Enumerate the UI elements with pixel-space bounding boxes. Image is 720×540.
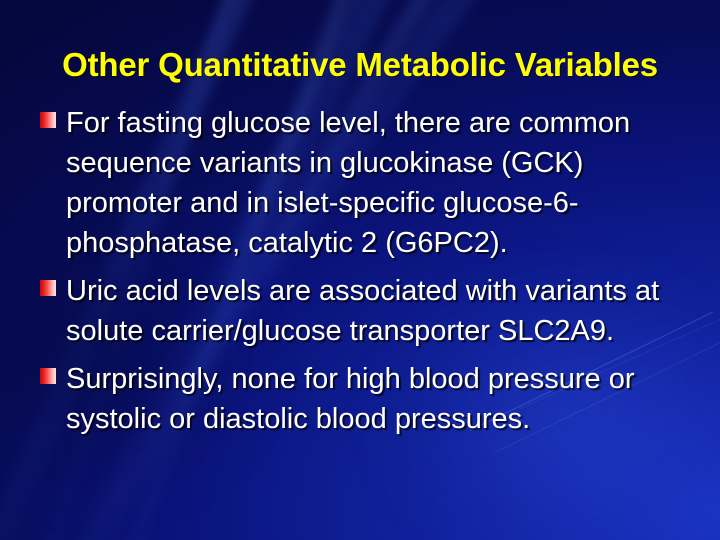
page-title: Other Quantitative Metabolic Variables [0, 46, 720, 84]
bullet-item-label: Uric acid levels are associated with var… [66, 271, 686, 351]
red-square-bullet-icon [40, 112, 56, 128]
bullet-item-label: For fasting glucose level, there are com… [66, 103, 686, 263]
list-item: For fasting glucose level, there are com… [40, 103, 690, 263]
slide-content: Other Quantitative Metabolic Variables F… [0, 0, 720, 540]
bullet-item-label: Surprisingly, none for high blood pressu… [66, 359, 686, 439]
red-square-bullet-icon [40, 368, 56, 384]
bullet-list: For fasting glucose level, there are com… [40, 103, 690, 447]
presentation-slide: Other Quantitative Metabolic Variables F… [0, 0, 720, 540]
list-item: Surprisingly, none for high blood pressu… [40, 359, 690, 439]
list-item: Uric acid levels are associated with var… [40, 271, 690, 351]
red-square-bullet-icon [40, 280, 56, 296]
